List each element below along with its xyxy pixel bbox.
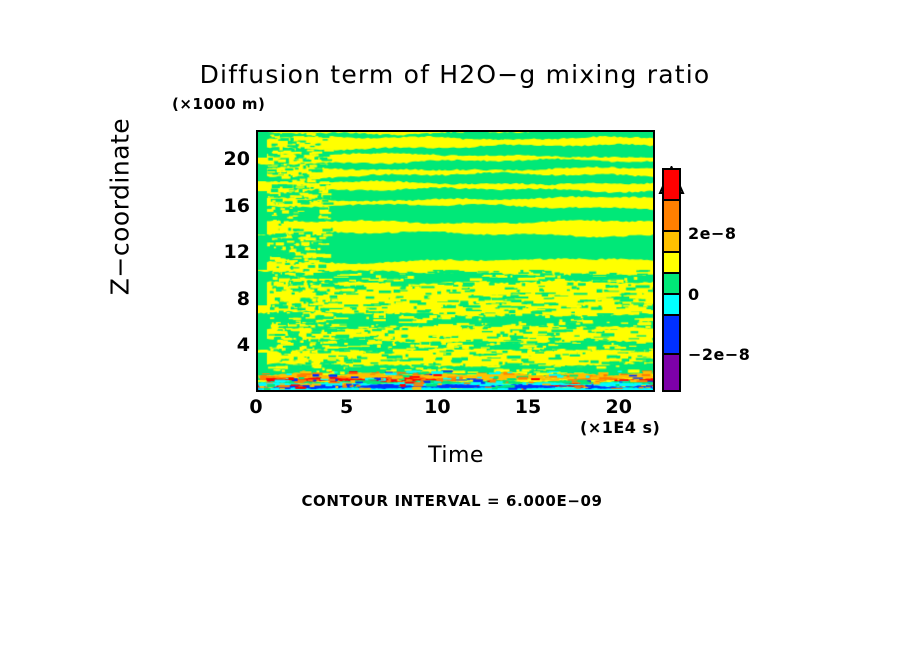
y-tick-label: 4 (206, 334, 250, 356)
x-tick-label: 0 (249, 396, 262, 418)
y-axis-title: Z−coordinate (106, 77, 135, 337)
colorbar-band-red (662, 168, 681, 199)
y-axis-tick-labels: 48121620 (200, 0, 250, 654)
x-tick-label: 10 (424, 396, 450, 418)
colorbar-band-green (662, 272, 681, 293)
y-tick-label: 12 (206, 241, 250, 263)
contour-field-canvas (258, 132, 653, 390)
figure-canvas: Diffusion term of H2O−g mixing ratio (×1… (0, 0, 904, 654)
colorbar (662, 168, 681, 392)
colorbar-band-yellow (662, 251, 681, 272)
contour-plot-area (256, 130, 655, 392)
colorbar-label: 0 (688, 285, 700, 304)
x-tick-label: 5 (340, 396, 353, 418)
colorbar-band-purple (662, 353, 681, 392)
colorbar-label: −2e−8 (688, 345, 750, 364)
x-tick-label: 20 (605, 396, 631, 418)
colorbar-band-gold (662, 230, 681, 251)
contour-interval-note: CONTOUR INTERVAL = 6.000E−09 (0, 492, 904, 510)
y-tick-label: 16 (206, 195, 250, 217)
x-axis-unit-label: (×1E4 s) (580, 418, 660, 437)
colorbar-band-cyan (662, 293, 681, 314)
y-tick-label: 20 (206, 148, 250, 170)
x-axis-tick-labels: 05101520 (0, 396, 904, 426)
colorbar-band-blue (662, 314, 681, 353)
y-tick-label: 8 (206, 288, 250, 310)
page-title: Diffusion term of H2O−g mixing ratio (175, 60, 735, 89)
x-axis-title: Time (376, 443, 536, 468)
colorbar-label: 2e−8 (688, 224, 737, 243)
x-tick-label: 15 (515, 396, 541, 418)
colorbar-band-orange (662, 199, 681, 230)
